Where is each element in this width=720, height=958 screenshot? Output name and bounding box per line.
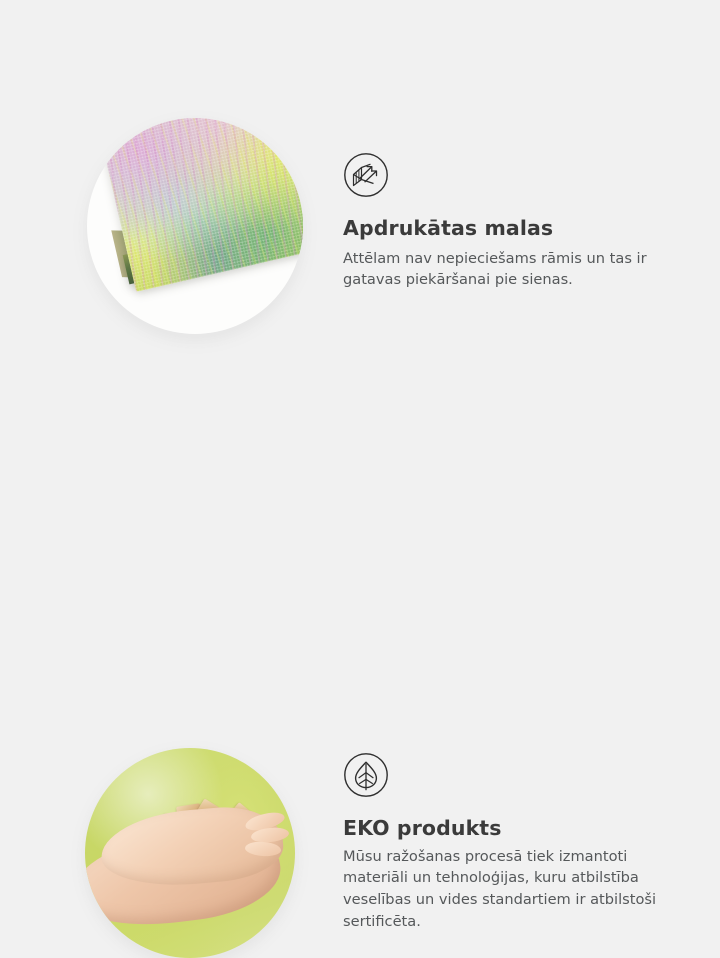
canvas-artwork — [87, 118, 303, 334]
feature-title: EKO produkts — [343, 816, 693, 841]
wrapped-canvas-edge-icon — [343, 152, 389, 198]
feature-block-eco-product: EKO produkts Mūsu ražošanas procesā tiek… — [0, 360, 720, 720]
hands-artwork — [85, 748, 295, 958]
leaf-icon — [343, 752, 389, 798]
hands-holding-wood-chips-photo — [85, 748, 295, 958]
feature-title: Apdrukātas malas — [343, 216, 693, 241]
feature-text-printed-edges: Apdrukātas malas Attēlam nav nepieciešam… — [343, 152, 693, 291]
feature-block-printed-edges: Apdrukātas malas Attēlam nav nepieciešam… — [0, 0, 720, 360]
feature-description: Attēlam nav nepieciešams rāmis un tas ir… — [343, 248, 683, 292]
feature-text-eco-product: EKO produkts Mūsu ražošanas procesā tiek… — [343, 752, 693, 933]
product-feature-infographic: Apdrukātas malas Attēlam nav nepieciešam… — [0, 0, 720, 720]
feature-description: Mūsu ražošanas procesā tiek izmantoti ma… — [343, 846, 683, 934]
canvas-print-corner-photo — [87, 118, 303, 334]
